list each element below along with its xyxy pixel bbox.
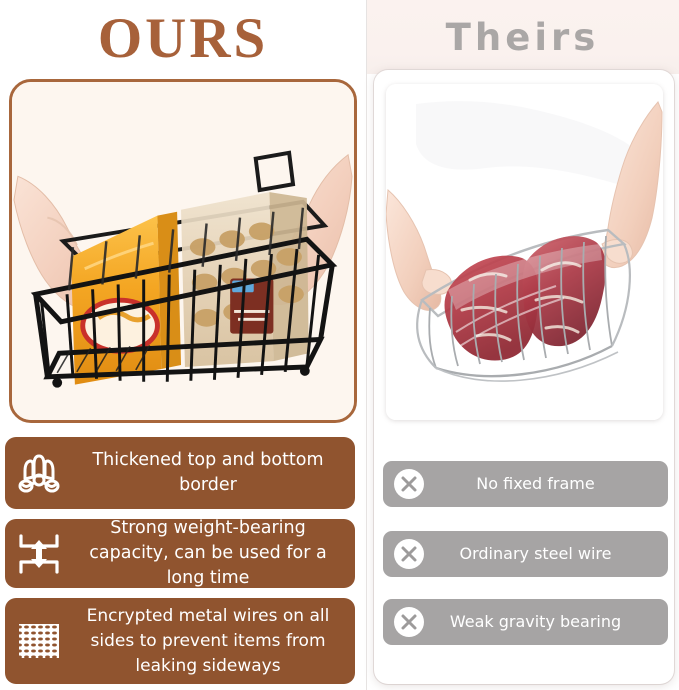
ours-product-photo [9,79,357,423]
theirs-title: Theirs [366,12,679,64]
ours-feature-3-label: Encrypted metal wires on all sides to pr… [69,604,349,679]
ours-feature-1: Thickened top and bottom border [5,437,355,509]
theirs-feature-3: Weak gravity bearing [383,599,668,645]
ours-feature-2: Strong weight-bearing capacity, can be u… [5,519,355,588]
weight-bearing-icon [9,526,69,582]
ours-feature-1-label: Thickened top and bottom border [69,448,349,498]
theirs-basket-illustration [386,84,663,420]
panel-divider [366,0,367,690]
ours-feature-2-label: Strong weight-bearing capacity, can be u… [69,516,349,591]
x-circle-icon-glyph [393,538,425,570]
thick-border-icon-glyph [17,452,61,494]
x-circle-icon [389,602,429,642]
x-circle-icon [389,464,429,504]
theirs-feature-1: No fixed frame [383,461,668,507]
ours-basket-illustration [12,82,354,420]
mesh-grid-icon [9,613,69,669]
ours-title: OURS [0,5,366,73]
thick-border-icon [9,445,69,501]
x-circle-icon-glyph [393,468,425,500]
theirs-feature-3-label: Weak gravity bearing [429,612,668,632]
mesh-grid-icon-glyph [16,618,62,664]
theirs-feature-2-label: Ordinary steel wire [429,544,668,564]
ours-panel: OURS [0,0,366,690]
theirs-feature-1-label: No fixed frame [429,474,668,494]
theirs-feature-2: Ordinary steel wire [383,531,668,577]
theirs-product-photo [386,84,663,420]
weight-bearing-icon-glyph [16,532,62,576]
comparison-infographic: OURS [0,0,679,690]
ours-feature-3: Encrypted metal wires on all sides to pr… [5,598,355,684]
x-circle-icon [389,534,429,574]
x-circle-icon-glyph [393,606,425,638]
